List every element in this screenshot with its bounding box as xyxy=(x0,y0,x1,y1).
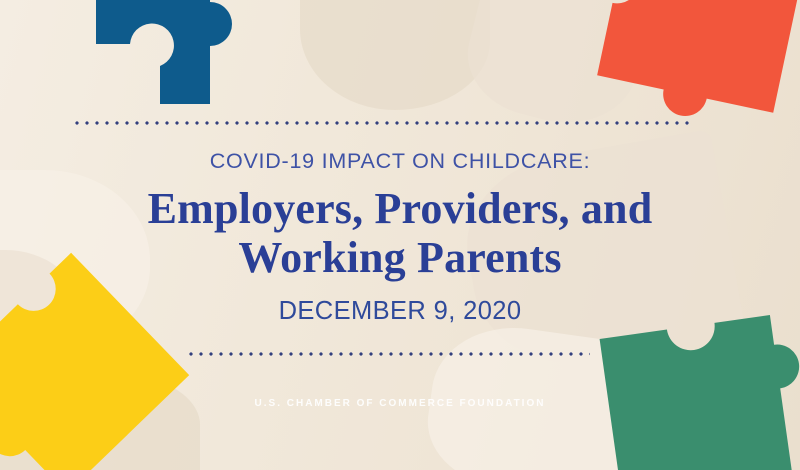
dotted-divider-top xyxy=(72,121,690,125)
page-title: Employers, Providers, and Working Parent… xyxy=(0,184,800,283)
organization-name: U.S. CHAMBER OF COMMERCE FOUNDATION xyxy=(0,398,800,409)
dotted-divider-bottom xyxy=(186,352,590,356)
event-date: DECEMBER 9, 2020 xyxy=(0,297,800,326)
title-text-block: COVID-19 IMPACT ON CHILDCARE: Employers,… xyxy=(0,150,800,326)
eyebrow-text: COVID-19 IMPACT ON CHILDCARE: xyxy=(0,150,800,174)
page-title-line-2: Working Parents xyxy=(0,233,800,283)
page-title-line-1: Employers, Providers, and xyxy=(0,184,800,234)
title-slide: COVID-19 IMPACT ON CHILDCARE: Employers,… xyxy=(0,0,800,470)
